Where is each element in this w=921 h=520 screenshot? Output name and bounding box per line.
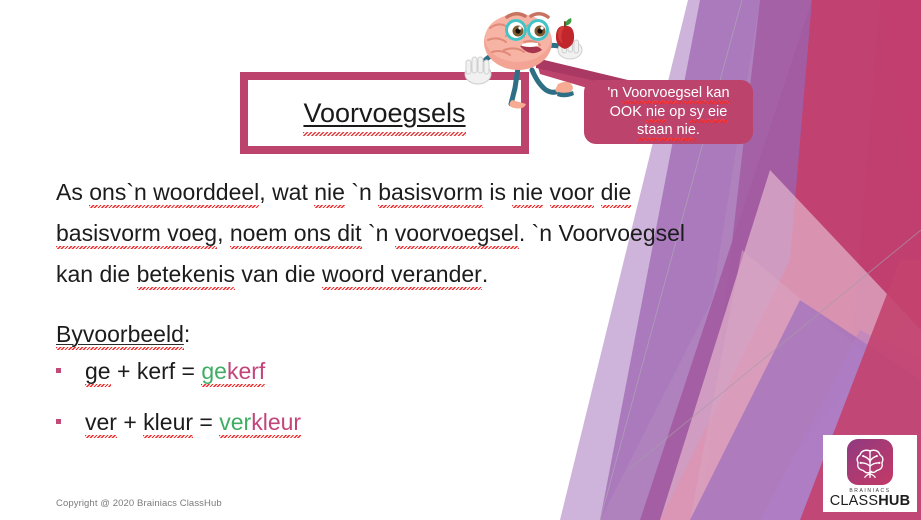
bubble-line2-b: nie [646,104,665,120]
bubble-line3-a: staan nie [637,122,696,138]
bubble-line1-b: Voorvoegsel kan [622,85,729,101]
bullet-2-result-prefix: ver [219,409,251,435]
body-segment-16: `n [362,220,395,246]
list-item: ver + kleur = verkleur [56,409,476,460]
body-segment-11: die [601,179,632,205]
body-segment-24: . [482,261,488,287]
bullet-2-plus: + [117,409,143,435]
bubble-line2-d: sy eie [689,104,727,120]
classhub-logo: BRAINIACS CLASSHUB [823,435,917,512]
bubble-line3-b: . [696,122,700,138]
body-segment-17: voorvoegsel [395,220,519,246]
body-segment-5: basisvorm [378,179,483,205]
example-list: ge + kerf = gekerf ver + kleur = verkleu… [56,358,476,460]
bullet-2-equals: = [193,409,219,435]
bullet-marker-icon [56,419,61,424]
bullet-1-result-base: kerf [227,358,265,384]
body-segment-13: basisvorm voeg [56,220,217,246]
body-segment-21: betekenis [137,261,235,287]
body-segment-14: , [217,220,230,246]
body-segment-1: ons`n woorddeel [89,179,259,205]
logo-word-bold: HUB [878,493,910,509]
byvoorbeeld-colon: : [184,321,190,347]
page-title: Voorvoegsels [303,98,465,129]
byvoorbeeld-label: Byvoorbeeld [56,321,184,347]
bullet-1-prefix: ge [85,358,111,384]
bullet-1-equals: = [175,358,201,384]
logo-wordmark: CLASSHUB [830,494,911,509]
body-segment-4: `n [345,179,378,205]
speech-bubble: 'n Voorvoegsel kan OOK nie op sy eie sta… [584,80,753,144]
bullet-1-plus: + [111,358,137,384]
footer-copyright: Copyright @ 2020 Brainiacs ClassHub [56,498,222,509]
byvoorbeeld-line: Byvoorbeeld: [56,317,706,351]
bubble-line1-a: 'n [607,85,622,101]
body-segment-23: woord verander [322,261,482,287]
body-segment-8 [543,179,549,205]
bubble-line2-c: op [665,104,689,120]
body-segment-15: noem ons dit [230,220,362,246]
bullet-1-base: kerf [137,358,175,384]
body-segment-9: voor [550,179,595,205]
body-segment-0: As [56,179,89,205]
body-copy: As ons`n woorddeel, wat nie `n basisvorm… [56,172,706,351]
bullet-1-result-prefix: ge [201,358,227,384]
bullet-2-expression: ver + kleur = verkleur [85,409,301,436]
body-segment-3: nie [314,179,345,205]
body-segment-6: is [483,179,512,205]
body-segment-20: die [93,261,136,287]
body-segment-10 [594,179,600,205]
bullet-2-base: kleur [143,409,193,435]
body-segment-22: van die [235,261,322,287]
body-segment-2: , wat [259,179,314,205]
bubble-line2-a: OOK [610,104,646,120]
bullet-2-prefix: ver [85,409,117,435]
list-item: ge + kerf = gekerf [56,358,476,409]
speech-bubble-text: 'n Voorvoegsel kan OOK nie op sy eie sta… [607,84,729,140]
body-paragraph: As ons`n woorddeel, wat nie `n basisvorm… [56,172,706,295]
bullet-marker-icon [56,368,61,373]
bullet-2-result-base: kleur [251,409,301,435]
body-segment-7: nie [512,179,543,205]
body-segment-18: . `n [519,220,559,246]
bullet-1-expression: ge + kerf = gekerf [85,358,265,385]
brain-logo-icon [847,439,893,485]
brain-mascot-icon [462,2,590,112]
logo-word-light: CLASS [830,493,879,509]
slide-canvas: Voorvoegsels 'n Voorvoegsel kan OOK nie … [0,0,921,520]
